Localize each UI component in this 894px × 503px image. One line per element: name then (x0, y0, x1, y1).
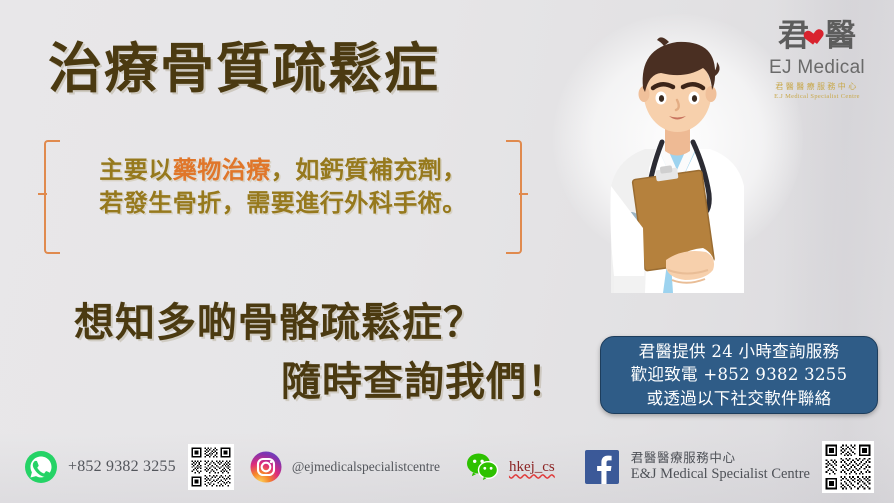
bracket-right-icon (508, 140, 528, 250)
subtitle-line-1: 主要以藥物治療，如鈣質補充劑， (64, 154, 502, 187)
instagram-handle: @ejmedicalspecialistcentre (292, 459, 440, 475)
facebook-name-chinese: 君醫醫療服務中心 (631, 451, 810, 466)
footer-facebook[interactable]: 君醫醫療服務中心 E&J Medical Specialist Centre (585, 450, 810, 484)
callout-line-3: 或透過以下社交軟件聯絡 (647, 387, 832, 410)
subtitle-bracket-block: 主要以藥物治療，如鈣質補充劑， 若發生骨折，需要進行外科手術。 (38, 140, 528, 250)
footer-contact-bar: +852 9382 3255 (0, 431, 894, 503)
wechat-id: hkej_cs (509, 459, 555, 476)
subtitle-line1-highlight: 藥物治療 (173, 156, 271, 184)
whatsapp-qr-code (188, 444, 234, 490)
facebook-qr-code (822, 441, 874, 493)
callout-line-1: 君醫提供 24 小時查詢服務 (639, 340, 840, 363)
page-title: 治療骨質疏鬆症 (48, 42, 440, 96)
subtitle-line-2: 若發生骨折，需要進行外科手術。 (64, 187, 502, 220)
brand-logo[interactable]: 君醫 EJ Medical 君醫醫療服務中心 E.J Medical Speci… (754, 14, 880, 100)
footer-wechat[interactable]: hkej_cs (466, 452, 555, 482)
facebook-name-english: E&J Medical Specialist Centre (631, 466, 810, 483)
subtitle-line1-after: ，如鈣質補充劑， (271, 156, 467, 184)
bracket-left-icon (38, 140, 58, 250)
subtitle-text: 主要以藥物治療，如鈣質補充劑， 若發生骨折，需要進行外科手術。 (64, 154, 502, 220)
facebook-labels: 君醫醫療服務中心 E&J Medical Specialist Centre (631, 451, 810, 483)
poster-canvas: 君醫 EJ Medical 君醫醫療服務中心 E.J Medical Speci… (0, 0, 894, 503)
facebook-qr-svg (822, 441, 874, 493)
logo-subtitle-english: E.J Medical Specialist Centre (754, 93, 880, 100)
facebook-icon[interactable] (585, 450, 619, 484)
logo-english-name: EJ Medical (754, 57, 880, 79)
contact-callout-box[interactable]: 君醫提供 24 小時查詢服務 歡迎致電 +852 9382 3255 或透過以下… (600, 336, 878, 414)
whatsapp-qr-svg (188, 444, 234, 490)
callout-line-2: 歡迎致電 +852 9382 3255 (631, 363, 848, 386)
whatsapp-icon[interactable] (24, 450, 58, 484)
subtitle-line1-before: 主要以 (99, 156, 173, 184)
question-line-1: 想知多啲骨骼疏鬆症？ (74, 303, 484, 343)
question-line-2: 隨時查詢我們！ (281, 362, 568, 402)
logo-mark: 君醫 (754, 14, 880, 58)
footer-whatsapp[interactable]: +852 9382 3255 (24, 450, 176, 484)
whatsapp-number: +852 9382 3255 (68, 458, 176, 476)
logo-subtitle-chinese: 君醫醫療服務中心 (754, 81, 880, 92)
wechat-icon[interactable] (466, 452, 499, 482)
footer-instagram[interactable]: @ejmedicalspecialistcentre (250, 451, 440, 483)
instagram-icon[interactable] (250, 451, 282, 483)
heart-icon (807, 29, 826, 47)
